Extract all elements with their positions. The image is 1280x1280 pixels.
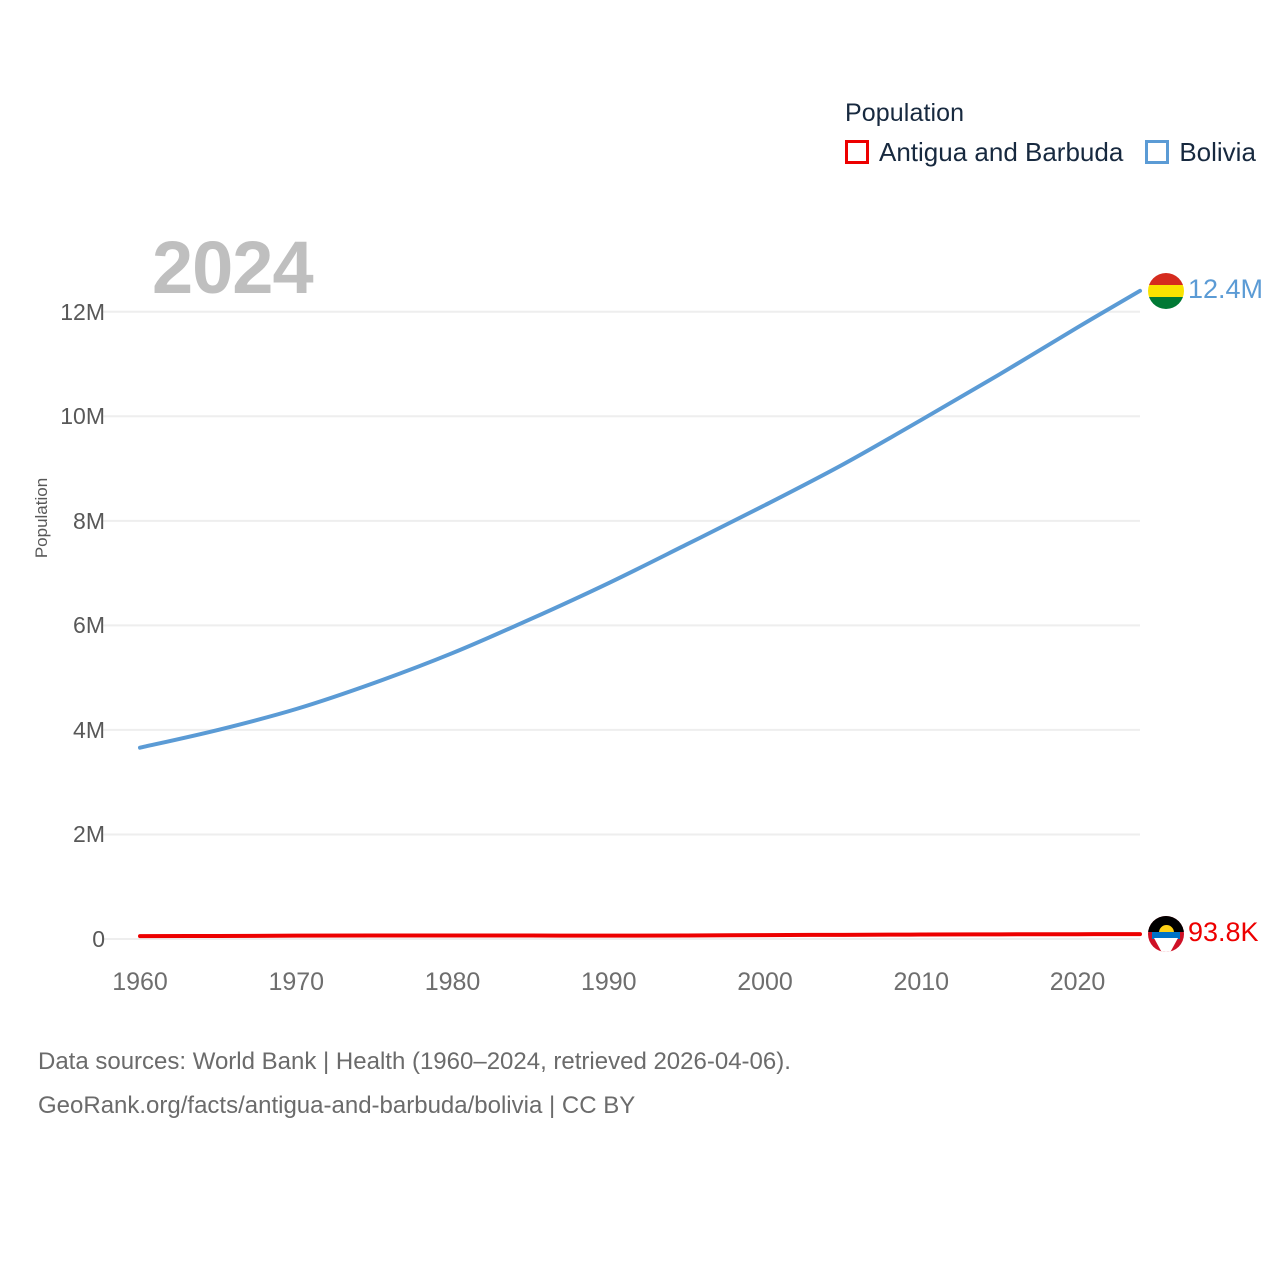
y-axis-tick-label: 8M bbox=[0, 508, 105, 535]
antigua-endpoint-value: 93.8K bbox=[1188, 917, 1259, 948]
antigua-and-barbuda-flag-icon bbox=[1148, 916, 1184, 952]
y-axis-tick-label: 2M bbox=[0, 821, 105, 848]
x-axis-tick-label: 2020 bbox=[1018, 968, 1138, 997]
bolivia-flag-icon bbox=[1148, 273, 1184, 309]
series-line-bolivia bbox=[140, 291, 1140, 748]
footer-attribution: GeoRank.org/facts/antigua-and-barbuda/bo… bbox=[38, 1084, 791, 1128]
series-lines bbox=[140, 291, 1140, 936]
x-axis-tick-label: 2000 bbox=[705, 968, 825, 997]
flag-stripe-red bbox=[1148, 273, 1184, 285]
footer-data-sources: Data sources: World Bank | Health (1960–… bbox=[38, 1040, 791, 1084]
chart-page: Population Antigua and Barbuda Bolivia 2… bbox=[0, 0, 1280, 1280]
x-axis-tick-label: 1990 bbox=[549, 968, 669, 997]
bolivia-endpoint-value: 12.4M bbox=[1188, 274, 1263, 305]
series-line-antigua-and-barbuda bbox=[140, 934, 1140, 936]
x-axis-tick-label: 1980 bbox=[393, 968, 513, 997]
year-watermark: 2024 bbox=[152, 228, 313, 308]
chart-footer: Data sources: World Bank | Health (1960–… bbox=[38, 1040, 791, 1128]
x-axis-tick-label: 2010 bbox=[861, 968, 981, 997]
flag-stripe-yellow bbox=[1148, 285, 1184, 297]
y-axis-tick-label: 0 bbox=[0, 926, 105, 953]
x-axis-tick-label: 1960 bbox=[80, 968, 200, 997]
flag-stripe-green bbox=[1148, 297, 1184, 309]
y-axis-tick-label: 4M bbox=[0, 717, 105, 744]
y-axis-tick-label: 6M bbox=[0, 612, 105, 639]
x-axis-tick-label: 1970 bbox=[236, 968, 356, 997]
y-axis-tick-label: 10M bbox=[0, 403, 105, 430]
y-axis-tick-label: 12M bbox=[0, 299, 105, 326]
gridlines bbox=[102, 312, 1140, 939]
flag-triangle-white bbox=[1154, 938, 1178, 952]
